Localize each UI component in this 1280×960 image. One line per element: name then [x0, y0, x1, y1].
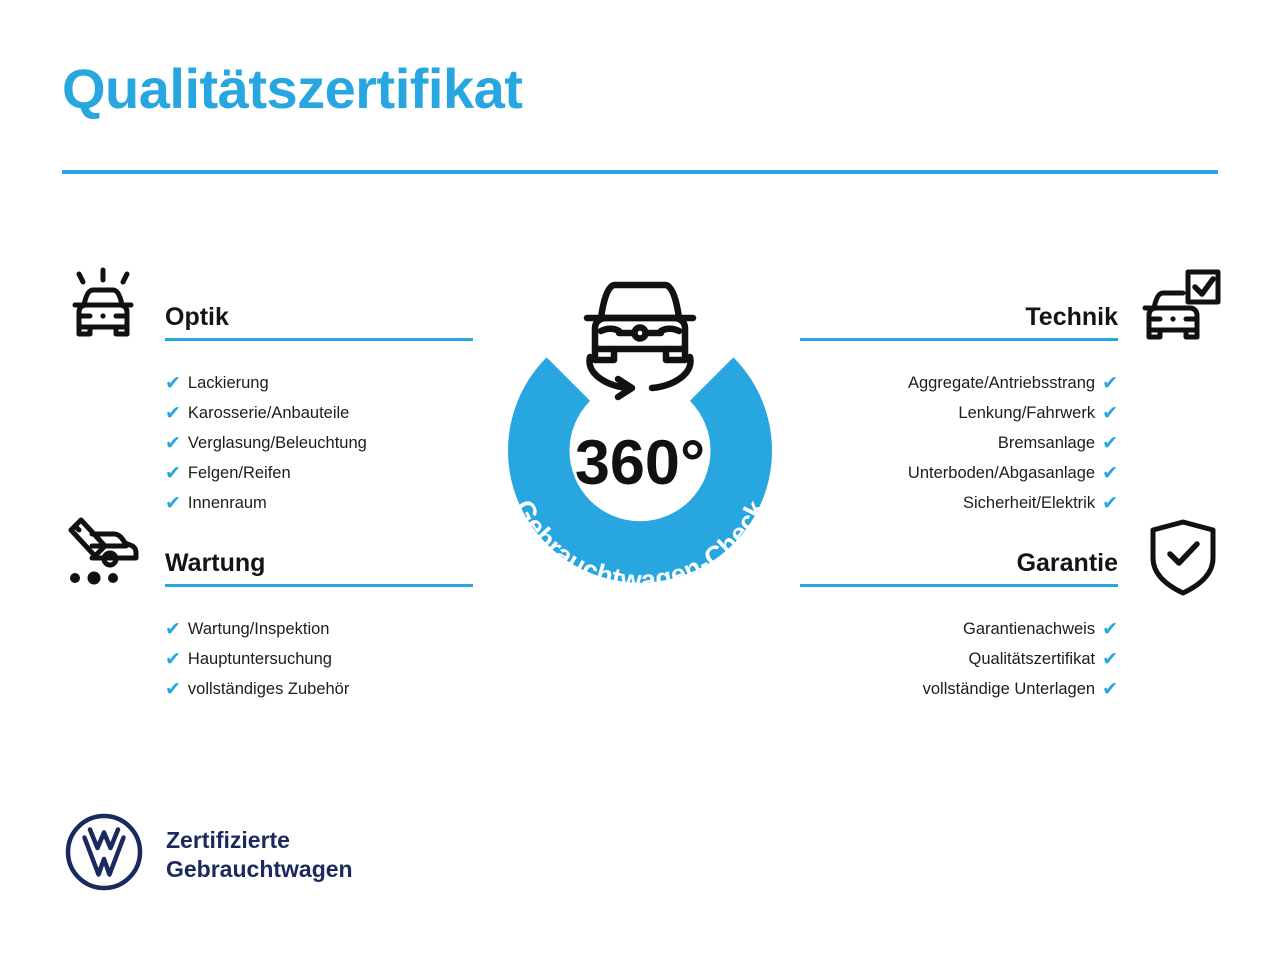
section-garantie-rule	[800, 584, 1118, 587]
list-item: vollständige Unterlagen ✔	[800, 674, 1118, 704]
section-optik-header: Optik	[165, 300, 473, 350]
list-item: ✔ Karosserie/Anbauteile	[165, 398, 473, 428]
shield-check-icon	[1146, 516, 1220, 603]
list-item-label: Karosserie/Anbauteile	[188, 398, 349, 428]
list-item: Sicherheit/Elektrik ✔	[800, 488, 1118, 518]
section-technik-list: Aggregate/Antriebsstrang ✔ Lenkung/Fahrw…	[800, 368, 1118, 518]
section-technik-header: Technik	[800, 300, 1118, 350]
list-item-label: Hauptuntersuchung	[188, 644, 332, 674]
check-icon: ✔	[1102, 404, 1118, 423]
list-item-label: Felgen/Reifen	[188, 458, 291, 488]
section-optik: Optik ✔ Lackierung ✔ Karosserie/Anbautei…	[165, 300, 473, 518]
section-wartung-header: Wartung	[165, 546, 473, 596]
check-icon: ✔	[165, 494, 181, 513]
check-icon: ✔	[165, 404, 181, 423]
list-item-label: Qualitätszertifikat	[969, 644, 1096, 674]
check-icon: ✔	[165, 620, 181, 639]
list-item-label: Sicherheit/Elektrik	[963, 488, 1095, 518]
check-icon: ✔	[1102, 464, 1118, 483]
list-item-label: Aggregate/Antriebsstrang	[908, 368, 1095, 398]
check-icon: ✔	[165, 374, 181, 393]
footer-line-1: Zertifizierte	[166, 826, 353, 855]
list-item: ✔ Felgen/Reifen	[165, 458, 473, 488]
check-icon: ✔	[1102, 650, 1118, 669]
list-item: Garantienachweis ✔	[800, 614, 1118, 644]
check-icon: ✔	[165, 464, 181, 483]
check-icon: ✔	[165, 434, 181, 453]
section-garantie-title: Garantie	[800, 546, 1118, 580]
section-technik: Technik Aggregate/Antriebsstrang ✔ Lenku…	[800, 300, 1118, 518]
footer-logo: Zertifizierte Gebrauchtwagen	[64, 812, 353, 897]
car-shine-icon	[62, 262, 144, 349]
footer-line-2: Gebrauchtwagen	[166, 855, 353, 884]
list-item-label: Lackierung	[188, 368, 269, 398]
section-optik-list: ✔ Lackierung ✔ Karosserie/Anbauteile ✔ V…	[165, 368, 473, 518]
footer-text-block: Zertifizierte Gebrauchtwagen	[166, 826, 353, 884]
section-wartung-list: ✔ Wartung/Inspektion ✔ Hauptuntersuchung…	[165, 614, 473, 704]
list-item: Bremsanlage ✔	[800, 428, 1118, 458]
car-service-icon	[62, 512, 144, 599]
section-wartung: Wartung ✔ Wartung/Inspektion ✔ Hauptunte…	[165, 546, 473, 704]
section-wartung-rule	[165, 584, 473, 587]
list-item-label: Lenkung/Fahrwerk	[958, 398, 1095, 428]
badge-degrees-label: 360°	[575, 428, 705, 498]
vw-logo-icon	[64, 812, 144, 897]
check-icon: ✔	[1102, 620, 1118, 639]
list-item: Lenkung/Fahrwerk ✔	[800, 398, 1118, 428]
list-item-label: Innenraum	[188, 488, 267, 518]
list-item: Qualitätszertifikat ✔	[800, 644, 1118, 674]
list-item-label: Bremsanlage	[998, 428, 1095, 458]
section-optik-rule	[165, 338, 473, 341]
list-item-label: Unterboden/Abgasanlage	[908, 458, 1095, 488]
section-technik-rule	[800, 338, 1118, 341]
check-icon: ✔	[1102, 434, 1118, 453]
section-wartung-title: Wartung	[165, 546, 473, 580]
section-garantie-list: Garantienachweis ✔ Qualitätszertifikat ✔…	[800, 614, 1118, 704]
list-item: ✔ Hauptuntersuchung	[165, 644, 473, 674]
check-icon: ✔	[1102, 494, 1118, 513]
car-rotate-icon	[587, 285, 693, 397]
badge-360-check: Gebrauchtwagen-Check 360°	[462, 252, 818, 648]
section-garantie: Garantie Garantienachweis ✔ Qualitätszer…	[800, 546, 1118, 704]
list-item-label: vollständige Unterlagen	[923, 674, 1095, 704]
section-optik-title: Optik	[165, 300, 473, 334]
check-icon: ✔	[165, 680, 181, 699]
section-garantie-header: Garantie	[800, 546, 1118, 596]
check-icon: ✔	[165, 650, 181, 669]
list-item: ✔ Innenraum	[165, 488, 473, 518]
section-technik-title: Technik	[800, 300, 1118, 334]
car-checkbox-icon	[1138, 266, 1222, 353]
list-item: ✔ vollständiges Zubehör	[165, 674, 473, 704]
title-divider	[62, 170, 1218, 174]
list-item: Unterboden/Abgasanlage ✔	[800, 458, 1118, 488]
list-item: Aggregate/Antriebsstrang ✔	[800, 368, 1118, 398]
list-item: ✔ Lackierung	[165, 368, 473, 398]
list-item-label: Garantienachweis	[963, 614, 1095, 644]
check-icon: ✔	[1102, 374, 1118, 393]
list-item-label: Wartung/Inspektion	[188, 614, 330, 644]
check-icon: ✔	[1102, 680, 1118, 699]
list-item-label: Verglasung/Beleuchtung	[188, 428, 367, 458]
page-title: Qualitätszertifikat	[62, 58, 522, 120]
list-item: ✔ Verglasung/Beleuchtung	[165, 428, 473, 458]
list-item-label: vollständiges Zubehör	[188, 674, 349, 704]
list-item: ✔ Wartung/Inspektion	[165, 614, 473, 644]
